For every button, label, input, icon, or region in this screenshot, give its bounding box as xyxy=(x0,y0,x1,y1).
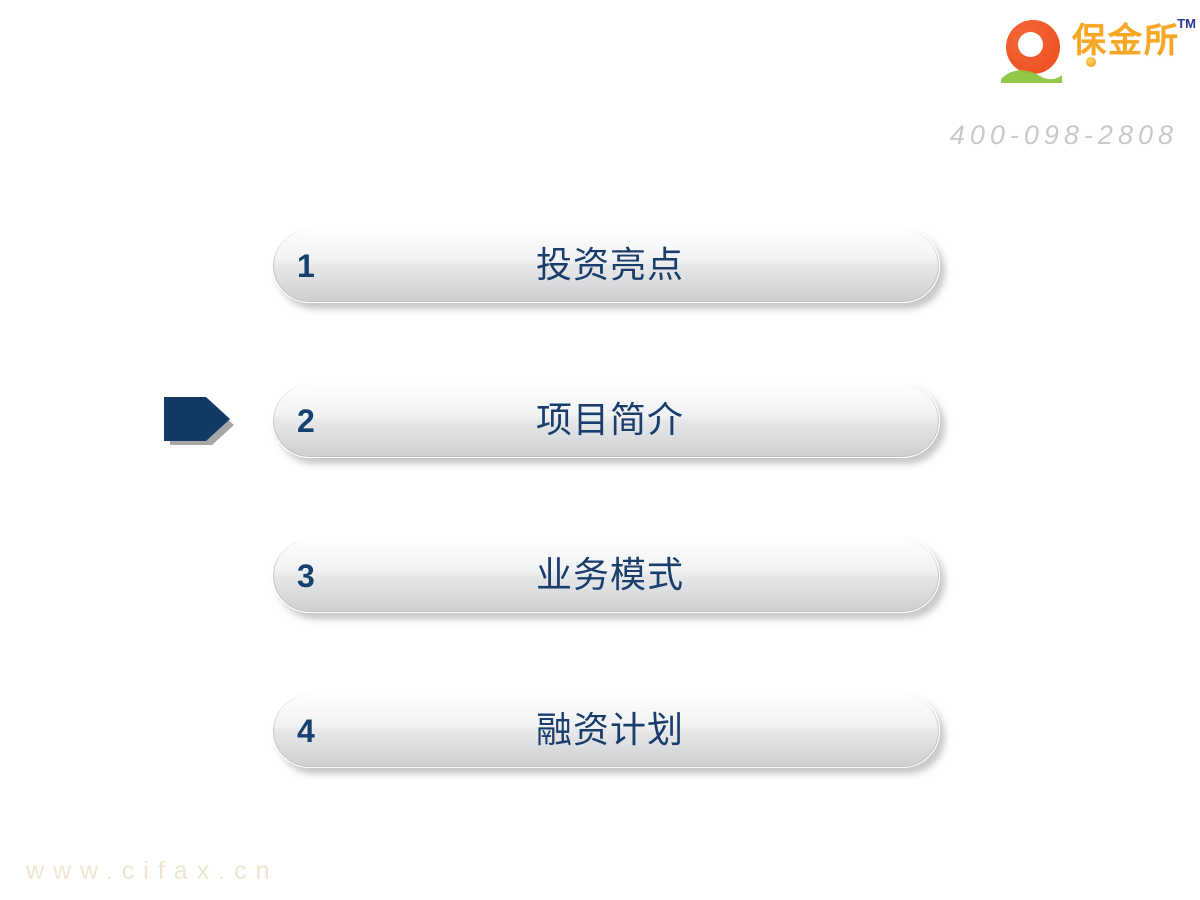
brand-gold-dot-icon xyxy=(1086,57,1096,67)
agenda-item-3[interactable]: 3 业务模式 xyxy=(0,538,1200,613)
agenda-item-label: 融资计划 xyxy=(273,713,939,749)
agenda-item-4[interactable]: 4 融资计划 xyxy=(0,693,1200,768)
agenda-pill[interactable]: 4 融资计划 xyxy=(272,693,940,768)
logo-ring-hole xyxy=(1018,32,1043,57)
trademark-symbol: TM xyxy=(1177,16,1196,31)
agenda-item-2[interactable]: 2 项目简介 xyxy=(0,383,1200,458)
brand-wordmark-text: 保金所 xyxy=(1072,24,1180,58)
green-swoosh-icon xyxy=(1000,64,1064,84)
agenda-item-label: 项目简介 xyxy=(273,403,939,439)
agenda-item-1[interactable]: 1 投资亮点 xyxy=(0,228,1200,303)
brand-block: 保金所 TM 400-098-2808 xyxy=(958,18,1188,148)
hotline-phone-number: 400-098-2808 xyxy=(950,120,1178,151)
current-section-arrow-icon xyxy=(162,391,242,449)
agenda-item-label: 投资亮点 xyxy=(273,248,939,284)
orange-ring-logo-icon xyxy=(1000,18,1066,86)
brand-logo-row: 保金所 TM xyxy=(1000,18,1180,86)
agenda-pill[interactable]: 3 业务模式 xyxy=(272,538,940,613)
agenda-pill[interactable]: 1 投资亮点 xyxy=(272,228,940,303)
agenda-list: 1 投资亮点 2 项目简介 xyxy=(0,228,1200,768)
agenda-pill[interactable]: 2 项目简介 xyxy=(272,383,940,458)
slide-canvas: 保金所 TM 400-098-2808 1 投资亮点 xyxy=(0,0,1200,900)
footer-website-url: www.cifax.cn xyxy=(26,857,278,886)
agenda-item-label: 业务模式 xyxy=(273,558,939,594)
brand-wordmark: 保金所 TM xyxy=(1072,18,1180,58)
